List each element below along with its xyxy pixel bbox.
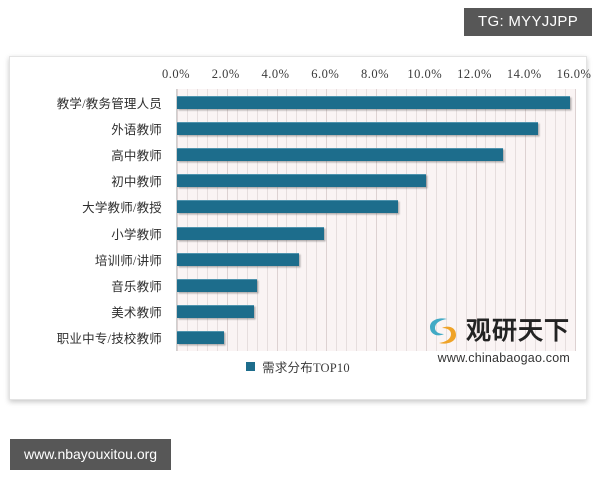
y-category-label: 初中教师 <box>111 168 162 194</box>
x-tick-label: 16.0% <box>557 67 592 82</box>
watermark-brand: 观研天下 <box>466 319 570 344</box>
bar-row <box>177 272 575 298</box>
x-tick-label: 0.0% <box>162 67 190 82</box>
bar[interactable] <box>177 331 224 344</box>
y-axis-category-labels: 教学/教务管理人员外语教师高中教师初中教师大学教师/教授小学教师培训师/讲师音乐… <box>10 89 170 351</box>
source-url-chip: www.nbayouxitou.org <box>10 439 171 470</box>
bar-row <box>177 89 575 115</box>
x-tick-label: 6.0% <box>311 67 339 82</box>
chart-card: 0.0%2.0%4.0%6.0%8.0%10.0%12.0%14.0%16.0%… <box>9 56 587 400</box>
y-category-label: 职业中专/技校教师 <box>57 325 162 351</box>
y-category-label: 高中教师 <box>111 141 162 167</box>
y-category-label: 音乐教师 <box>111 272 162 298</box>
watermark-site: www.chinabaogao.com <box>406 351 570 365</box>
bar[interactable] <box>177 96 570 109</box>
y-category-label: 外语教师 <box>111 115 162 141</box>
legend-swatch-icon <box>246 362 255 371</box>
bar[interactable] <box>177 305 254 318</box>
plot-area <box>176 89 575 351</box>
bar-row <box>177 220 575 246</box>
tg-badge: TG: MYYJJPP <box>464 8 592 36</box>
y-category-label: 美术教师 <box>111 299 162 325</box>
y-category-label: 小学教师 <box>111 220 162 246</box>
y-category-label: 大学教师/教授 <box>82 194 162 220</box>
x-tick-label: 4.0% <box>261 67 289 82</box>
gridline <box>575 89 576 351</box>
bar-row <box>177 168 575 194</box>
bar[interactable] <box>177 174 426 187</box>
bar-row <box>177 141 575 167</box>
swirl-logo-icon <box>426 314 460 348</box>
x-tick-label: 12.0% <box>457 67 492 82</box>
x-tick-label: 8.0% <box>361 67 389 82</box>
x-axis-tick-labels: 0.0%2.0%4.0%6.0%8.0%10.0%12.0%14.0%16.0% <box>10 67 586 85</box>
bar[interactable] <box>177 122 538 135</box>
x-tick-label: 10.0% <box>407 67 442 82</box>
x-tick-label: 2.0% <box>212 67 240 82</box>
bar[interactable] <box>177 148 503 161</box>
bar[interactable] <box>177 253 299 266</box>
y-category-label: 教学/教务管理人员 <box>57 89 162 115</box>
bar-row <box>177 246 575 272</box>
watermark-top-row: 观研天下 <box>406 314 570 348</box>
bar-row <box>177 194 575 220</box>
x-tick-label: 14.0% <box>507 67 542 82</box>
watermark: 观研天下 www.chinabaogao.com <box>406 314 570 365</box>
bar[interactable] <box>177 227 324 240</box>
y-category-label: 培训师/讲师 <box>95 246 162 272</box>
bar[interactable] <box>177 200 398 213</box>
bar[interactable] <box>177 279 257 292</box>
bar-row <box>177 115 575 141</box>
legend-label: 需求分布TOP10 <box>262 357 350 376</box>
chart-inner: 0.0%2.0%4.0%6.0%8.0%10.0%12.0%14.0%16.0%… <box>10 57 586 399</box>
